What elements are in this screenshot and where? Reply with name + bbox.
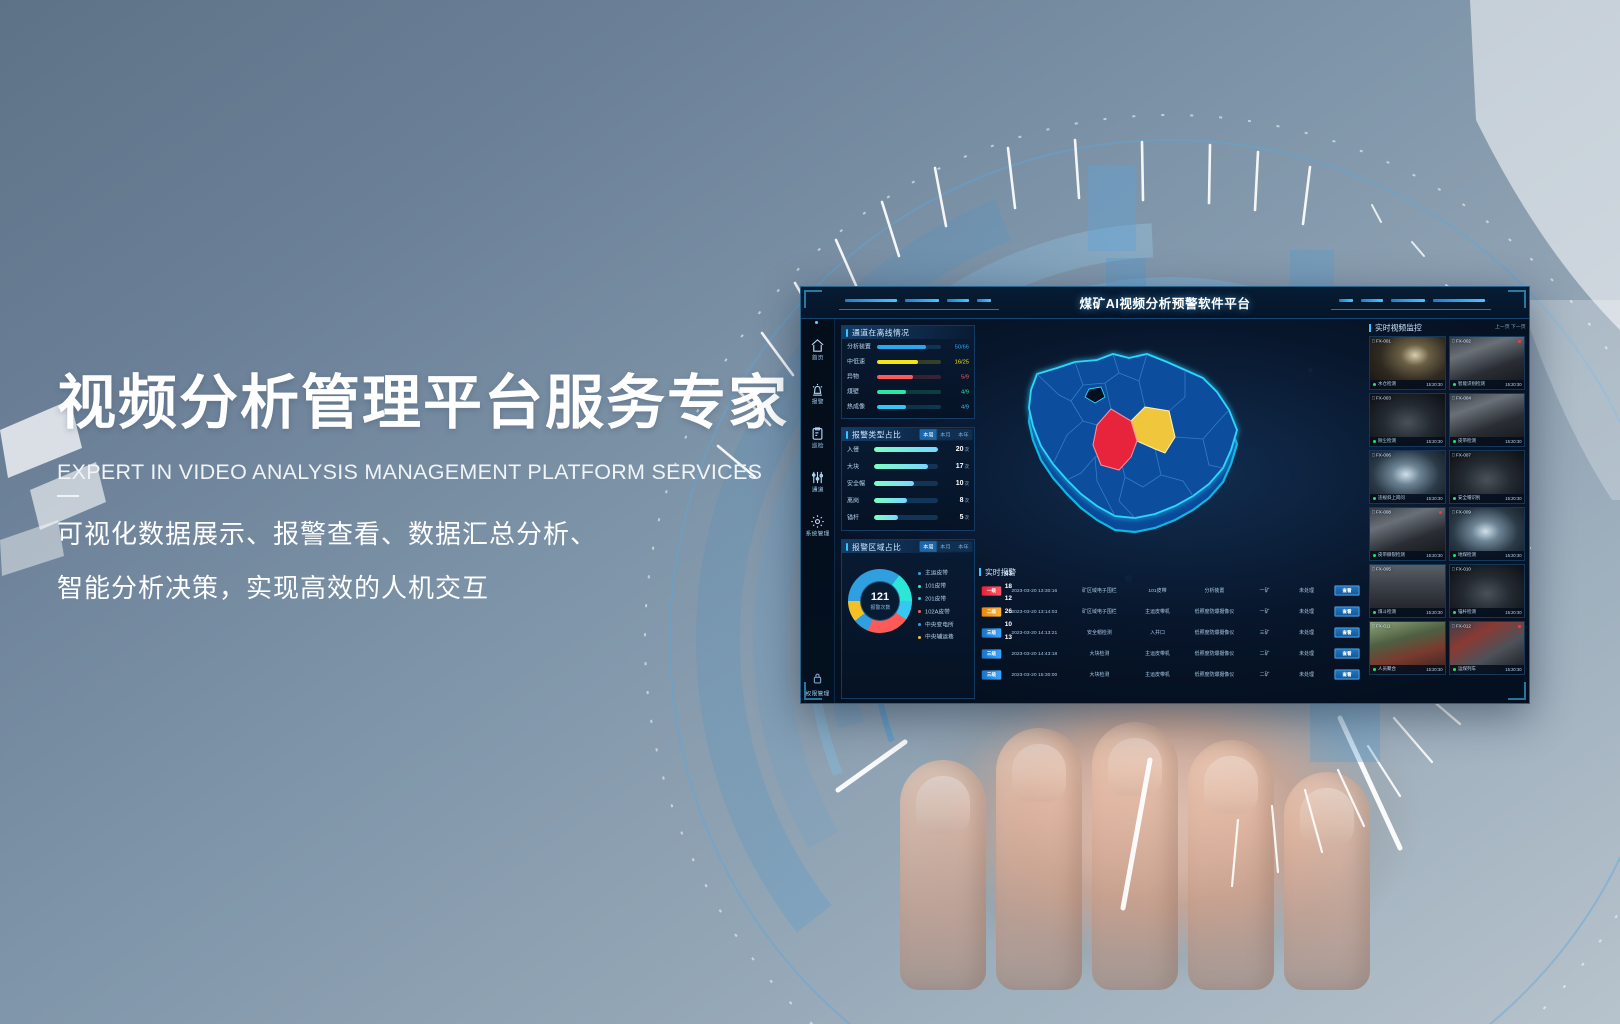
alarm-mine: 一矿 <box>1242 587 1287 594</box>
alarm-type-label: 大块 <box>847 463 876 471</box>
sidebar-item-label: 系统管理 <box>806 530 830 538</box>
online-indicator <box>1373 611 1376 614</box>
channel-value: 5/9 <box>939 373 969 379</box>
divider-rule <box>57 495 79 497</box>
accent-bar <box>1369 324 1371 332</box>
alarm-type-bar-track <box>874 481 938 486</box>
online-indicator <box>1453 383 1456 386</box>
clipboard-icon <box>810 426 825 441</box>
video-tile[interactable]: □ FX-007安全帽识别15:20:30 <box>1449 450 1526 504</box>
panel-title: 实时视频监控 <box>1375 322 1422 334</box>
video-tile[interactable]: □ FX-012运煤列车15:20:30 <box>1449 621 1526 675</box>
alarm-type-label: 锚杆 <box>847 514 876 522</box>
period-tabs[interactable]: 本周本月本年 <box>921 542 971 551</box>
legend-color-dot <box>918 610 921 613</box>
alarm-type-row: 入侵20次 <box>842 441 974 458</box>
panel-title: 实时报警 <box>985 566 1016 578</box>
camera-name: 除尘检测 <box>1378 439 1433 445</box>
hero-subheadline: EXPERT IN VIDEO ANALYSIS MANAGEMENT PLAT… <box>57 460 817 485</box>
period-tab-本周[interactable]: 本周 <box>919 541 937 552</box>
camera-timestamp: 15:20:30 <box>1426 553 1442 557</box>
alarm-device: 低照度防爆摄像仪 <box>1180 650 1250 657</box>
video-tile[interactable]: □ FX-009地煤检测15:20:30 <box>1449 507 1526 561</box>
hero-body-line-1: 可视化数据展示、报警查看、数据汇总分析、 <box>57 514 817 551</box>
alarm-type-value: 17次 <box>943 463 969 470</box>
period-tab-本月[interactable]: 本月 <box>937 429 955 440</box>
table-row[interactable]: 三级2023-03-20 14:43:18大块检测主运皮带机低照度防爆摄像仪二矿… <box>979 643 1367 664</box>
sidebar-item-system-management[interactable]: 系统管理 <box>801 503 834 547</box>
channel-value: 16/25 <box>939 358 969 364</box>
video-tile-footer: 安全帽识别15:20:30 <box>1450 494 1525 503</box>
legend-color-dot <box>918 636 921 639</box>
alarm-time: 2023-03-20 14:43:18 <box>995 651 1074 657</box>
panel-header: 实时报警 <box>979 567 1367 576</box>
legend-color-dot <box>918 623 921 626</box>
camera-timestamp: 15:20:30 <box>1505 610 1521 614</box>
channel-label: 热成像 <box>847 403 881 411</box>
video-tile[interactable]: □ FX-006违规斜上岗问15:20:30 <box>1369 450 1446 504</box>
alarm-mine: 一矿 <box>1242 608 1287 615</box>
camera-id: □ FX-011 <box>1372 624 1391 629</box>
corner-accent <box>1508 290 1526 308</box>
alarm-mine: 二矿 <box>1242 671 1287 678</box>
table-row[interactable]: 一级2023-03-20 13:30:16矿区域电子围栏101皮带分析装置一矿未… <box>979 580 1367 601</box>
video-tile-footer: 智能识别检测15:20:30 <box>1450 380 1525 389</box>
camera-name: 水仓检测 <box>1378 382 1433 388</box>
camera-name: 违规斜上岗问 <box>1378 496 1433 502</box>
camera-id: □ FX-008 <box>1372 510 1391 515</box>
video-tile[interactable]: □ FX-010锚杆检测15:20:30 <box>1449 564 1526 618</box>
realtime-alarm-panel: 实时报警 一级2023-03-20 13:30:16矿区域电子围栏101皮带分析… <box>979 567 1367 699</box>
view-button[interactable]: 查看 <box>1335 648 1360 658</box>
camera-timestamp: 15:20:30 <box>1426 610 1442 614</box>
camera-timestamp: 15:20:30 <box>1505 382 1521 386</box>
accent-bar <box>846 543 848 551</box>
alarm-type: 大块检测 <box>1064 650 1134 657</box>
channel-row: 中低速16/25 <box>842 354 974 369</box>
hand-fingers <box>900 690 1420 990</box>
alarm-type-bar-fill <box>874 481 914 486</box>
dashboard-device: 煤矿AI视频分析预警软件平台 首页 报警 <box>800 286 1530 704</box>
camera-timestamp: 15:20:30 <box>1426 667 1442 671</box>
panel-header: 报警类型占比 本周本月本年 <box>842 428 974 441</box>
alarm-type-value: 20次 <box>943 446 969 453</box>
alarm-type-label: 安全帽 <box>847 480 876 488</box>
accent-bar <box>846 431 848 439</box>
video-tile[interactable]: □ FX-008皮带撕裂检测15:20:30 <box>1369 507 1446 561</box>
channel-value: 4/9 <box>939 403 969 409</box>
alarm-type-label: 入侵 <box>847 446 876 454</box>
online-indicator <box>1373 554 1376 557</box>
alarm-time: 2023-03-20 13:14:03 <box>995 609 1074 615</box>
sidebar-item-label: 首页 <box>812 354 824 362</box>
alarm-status: 未处理 <box>1281 608 1331 615</box>
camera-timestamp: 15:20:30 <box>1505 667 1521 671</box>
gear-icon <box>810 514 825 529</box>
sidebar-item-label: 巡检 <box>812 442 824 450</box>
channel-row: 煤壁4/9 <box>842 384 974 399</box>
video-tile[interactable]: □ FX-004皮带检测15:20:30 <box>1449 393 1526 447</box>
channel-bar-track <box>877 375 941 379</box>
view-button[interactable]: 查看 <box>1335 585 1360 595</box>
alarm-area-panel: 报警区域占比 本周本月本年 121 报警次数 主运皮带43101皮带18201皮… <box>841 539 975 699</box>
alarm-type-value: 10次 <box>943 480 969 487</box>
view-button[interactable]: 查看 <box>1335 606 1360 616</box>
alarm-type-row: 安全帽10次 <box>842 475 974 492</box>
legend-color-dot <box>918 572 921 575</box>
sliders-icon <box>810 470 825 485</box>
home-icon <box>810 338 825 353</box>
alarm-type-bar-track <box>874 498 938 503</box>
camera-id: □ FX-002 <box>1452 339 1471 344</box>
prev-page-button[interactable]: 上一页 <box>1495 324 1509 331</box>
channel-row: 分析装置50/66 <box>842 339 974 354</box>
video-monitor-panel: 实时视频监控 上一页 下一页 □ FX-001水仓检测15:20:30□ FX-… <box>1369 323 1525 699</box>
alarm-type-unit: 次 <box>965 464 970 469</box>
alarm-type-row: 大块17次 <box>842 458 974 475</box>
alarm-time: 2023-03-20 14:13:21 <box>995 630 1074 636</box>
video-tile[interactable]: □ FX-011人员聚合15:20:30 <box>1369 621 1446 675</box>
period-tab-本月[interactable]: 本月 <box>937 541 955 552</box>
alarm-device: 分析装置 <box>1180 587 1250 594</box>
alarm-time: 2023-03-20 15:30:00 <box>995 672 1074 678</box>
online-indicator <box>1373 497 1376 500</box>
table-row[interactable]: 三级2023-03-20 14:13:21安全帽检测入井口低照度防爆摄像仪三矿未… <box>979 622 1367 643</box>
alarm-type: 安全帽检测 <box>1064 629 1134 636</box>
channel-status-panel: 通道在离线情况 分析装置50/66中低速16/25异物5/9煤壁4/9热成像4/… <box>841 325 975 419</box>
online-indicator <box>1373 440 1376 443</box>
dashboard-screen: 煤矿AI视频分析预警软件平台 首页 报警 <box>801 287 1529 703</box>
alarm-device: 低照度防爆摄像仪 <box>1180 608 1250 615</box>
period-tab-本周[interactable]: 本周 <box>919 429 937 440</box>
recording-indicator <box>1518 340 1521 343</box>
online-indicator <box>1453 554 1456 557</box>
camera-id: □ FX-009 <box>1452 510 1471 515</box>
alarm-type-bar-track <box>874 515 938 520</box>
panel-title: 通道在离线情况 <box>852 327 909 339</box>
channel-bar-fill <box>877 390 906 394</box>
alarm-type-unit: 次 <box>965 515 970 520</box>
recording-indicator <box>1518 625 1521 628</box>
donut-center: 121 报警次数 <box>860 581 900 621</box>
channel-bar-fill <box>877 345 926 349</box>
alarm-status: 未处理 <box>1281 650 1331 657</box>
panel-header: 实时视频监控 上一页 下一页 <box>1369 323 1525 332</box>
dashboard-header: 煤矿AI视频分析预警软件平台 <box>801 287 1529 319</box>
camera-timestamp: 15:20:30 <box>1505 553 1521 557</box>
panel-title: 报警区域占比 <box>852 541 901 553</box>
alarm-type-bar-track <box>874 447 938 452</box>
camera-timestamp: 15:20:30 <box>1426 496 1442 500</box>
map-svg <box>979 325 1279 575</box>
camera-timestamp: 15:20:30 <box>1426 382 1442 386</box>
accent-bar <box>979 568 981 576</box>
alarm-status: 未处理 <box>1281 587 1331 594</box>
sidebar-item-home[interactable]: 首页 <box>801 327 834 371</box>
legend-color-dot <box>918 597 921 600</box>
panel-title: 报警类型占比 <box>852 429 901 441</box>
video-tile[interactable]: □ FX-003除尘检测15:20:30 <box>1369 393 1446 447</box>
dashboard-title: 煤矿AI视频分析预警软件平台 <box>1080 293 1251 312</box>
video-pager[interactable]: 上一页 下一页 <box>1496 324 1525 330</box>
video-tile-footer: 皮带撕裂检测15:20:30 <box>1370 551 1445 560</box>
video-tile-footer: 水仓检测15:20:30 <box>1370 380 1445 389</box>
channel-bar-fill <box>877 375 913 379</box>
table-row[interactable]: 二级2023-03-20 13:14:03矿区域电子围栏主运皮带机低照度防爆摄像… <box>979 601 1367 622</box>
alarm-type-unit: 次 <box>965 498 970 503</box>
channel-bar-track <box>877 390 941 394</box>
video-tile[interactable]: □ FX-002智能识别检测15:20:30 <box>1449 336 1526 390</box>
video-grid: □ FX-001水仓检测15:20:30□ FX-002智能识别检测15:20:… <box>1369 336 1525 675</box>
online-indicator <box>1453 611 1456 614</box>
camera-timestamp: 15:20:30 <box>1505 439 1521 443</box>
alarm-device: 低照度防爆摄像仪 <box>1180 671 1250 678</box>
sidebar-item-label: 报警 <box>812 398 824 406</box>
camera-name: 人员聚合 <box>1378 667 1433 673</box>
alarm-type-bar-fill <box>874 464 928 469</box>
camera-id: □ FX-006 <box>1372 453 1391 458</box>
video-tile-footer: 除尘检测15:20:30 <box>1370 437 1445 446</box>
channel-row: 异物5/9 <box>842 369 974 384</box>
online-indicator <box>1373 668 1376 671</box>
alarm-type-row: 锚杆5次 <box>842 509 974 526</box>
video-tile[interactable]: □ FX-005煤斗检测15:20:30 <box>1369 564 1446 618</box>
channel-value: 4/9 <box>939 388 969 394</box>
camera-name: 皮带撕裂检测 <box>1378 553 1433 559</box>
page-title: 视频分析管理平台服务专家 <box>57 370 817 438</box>
channel-bar-fill <box>877 360 918 364</box>
channel-value: 50/66 <box>939 343 969 349</box>
channel-bar-track <box>877 345 941 349</box>
alarm-type-bar-fill <box>874 498 907 503</box>
alarm-status: 未处理 <box>1281 629 1331 636</box>
corner-accent <box>1508 682 1526 700</box>
hero-body-line-2: 智能分析决策，实现高效的人机交互 <box>57 568 817 605</box>
alarm-type-rows: 入侵20次大块17次安全帽10次离岗8次锚杆5次 <box>842 441 974 526</box>
video-tile-footer: 地煤检测15:20:30 <box>1450 551 1525 560</box>
channel-label: 煤壁 <box>847 388 881 396</box>
sidebar-item-channel[interactable]: 通道 <box>801 459 834 503</box>
alarm-table: 一级2023-03-20 13:30:16矿区域电子围栏101皮带分析装置一矿未… <box>979 580 1367 685</box>
sidebar-item-label: 通道 <box>812 486 824 494</box>
online-indicator <box>1373 383 1376 386</box>
online-indicator <box>1453 440 1456 443</box>
camera-timestamp: 15:20:30 <box>1426 439 1442 443</box>
video-tile-footer: 煤斗检测15:20:30 <box>1370 608 1445 617</box>
panel-header: 报警区域占比 本周本月本年 <box>842 540 974 553</box>
camera-id: □ FX-001 <box>1372 339 1391 344</box>
alarm-area-donut: 121 报警次数 <box>848 569 912 633</box>
corner-accent <box>804 290 822 308</box>
panel-header: 通道在离线情况 <box>842 326 974 339</box>
view-button[interactable]: 查看 <box>1335 669 1360 679</box>
donut-total-label: 报警次数 <box>870 604 890 611</box>
recording-indicator <box>1439 511 1442 514</box>
video-tile[interactable]: □ FX-001水仓检测15:20:30 <box>1369 336 1446 390</box>
video-tile-footer: 人员聚合15:20:30 <box>1370 665 1445 674</box>
alarm-type-label: 离岗 <box>847 497 876 505</box>
alarm-light-icon <box>810 382 825 397</box>
alarm-type: 矿区域电子围栏 <box>1064 608 1134 615</box>
video-tile-footer: 皮带检测15:20:30 <box>1450 437 1525 446</box>
alarm-type-bar-track <box>874 464 938 469</box>
camera-id: □ FX-010 <box>1452 567 1471 572</box>
video-tile-footer: 违规斜上岗问15:20:30 <box>1370 494 1445 503</box>
channel-bar-track <box>877 360 941 364</box>
channel-label: 分析装置 <box>847 343 881 351</box>
camera-id: □ FX-005 <box>1372 567 1391 572</box>
camera-id: □ FX-003 <box>1372 396 1391 401</box>
online-indicator <box>1453 497 1456 500</box>
alarm-type-unit: 次 <box>965 447 970 452</box>
channel-bar-fill <box>877 405 906 409</box>
online-indicator <box>1453 668 1456 671</box>
alarm-mine: 二矿 <box>1242 650 1287 657</box>
alarm-type-unit: 次 <box>965 481 970 486</box>
channel-label: 中低速 <box>847 358 881 366</box>
corner-accent <box>804 682 822 700</box>
alarm-type-value: 8次 <box>943 497 969 504</box>
alarm-mine: 三矿 <box>1242 629 1287 636</box>
alarm-time: 2023-03-20 13:30:16 <box>995 588 1074 594</box>
legend-color-dot <box>918 585 921 588</box>
alarm-type-row: 离岗8次 <box>842 492 974 509</box>
alarm-status: 未处理 <box>1281 671 1331 678</box>
camera-id: □ FX-004 <box>1452 396 1471 401</box>
alarm-type: 大块检测 <box>1064 671 1134 678</box>
alarm-type-bar-fill <box>874 447 938 452</box>
alarm-type: 矿区域电子围栏 <box>1064 587 1134 594</box>
alarm-type-bar-fill <box>874 515 898 520</box>
channel-row: 热成像4/9 <box>842 399 974 414</box>
table-row[interactable]: 三级2023-03-20 15:30:00大块检测主运皮带机低照度防爆摄像仪二矿… <box>979 664 1367 685</box>
period-tab-本年[interactable]: 本年 <box>955 541 973 552</box>
alarm-device: 低照度防爆摄像仪 <box>1180 629 1250 636</box>
channel-rows: 分析装置50/66中低速16/25异物5/9煤壁4/9热成像4/9 <box>842 339 974 414</box>
sidebar-item-inspection[interactable]: 巡检 <box>801 415 834 459</box>
camera-id: □ FX-012 <box>1452 624 1471 629</box>
next-page-button[interactable]: 下一页 <box>1511 324 1525 331</box>
camera-timestamp: 15:20:30 <box>1505 496 1521 500</box>
sidebar-nav: 首页 报警 巡检 通道 <box>801 319 835 703</box>
hero-copy: 视频分析管理平台服务专家 EXPERT IN VIDEO ANALYSIS MA… <box>57 370 817 605</box>
channel-bar-track <box>877 405 941 409</box>
view-button[interactable]: 查看 <box>1335 627 1360 637</box>
camera-id: □ FX-007 <box>1452 453 1471 458</box>
period-tabs[interactable]: 本周本月本年 <box>921 430 971 439</box>
period-tab-本年[interactable]: 本年 <box>955 429 973 440</box>
video-tile-footer: 运煤列车15:20:30 <box>1450 665 1525 674</box>
camera-name: 煤斗检测 <box>1378 610 1433 616</box>
sidebar-item-alarm[interactable]: 报警 <box>801 371 834 415</box>
region-map[interactable] <box>979 325 1279 575</box>
accent-bar <box>846 329 848 337</box>
channel-label: 异物 <box>847 373 881 381</box>
video-tile-footer: 锚杆检测15:20:30 <box>1450 608 1525 617</box>
alarm-type-value: 5次 <box>943 514 969 521</box>
alarm-type-panel: 报警类型占比 本周本月本年 入侵20次大块17次安全帽10次离岗8次锚杆5次 <box>841 427 975 531</box>
status-dot <box>815 321 818 324</box>
donut-total: 121 <box>871 592 889 603</box>
